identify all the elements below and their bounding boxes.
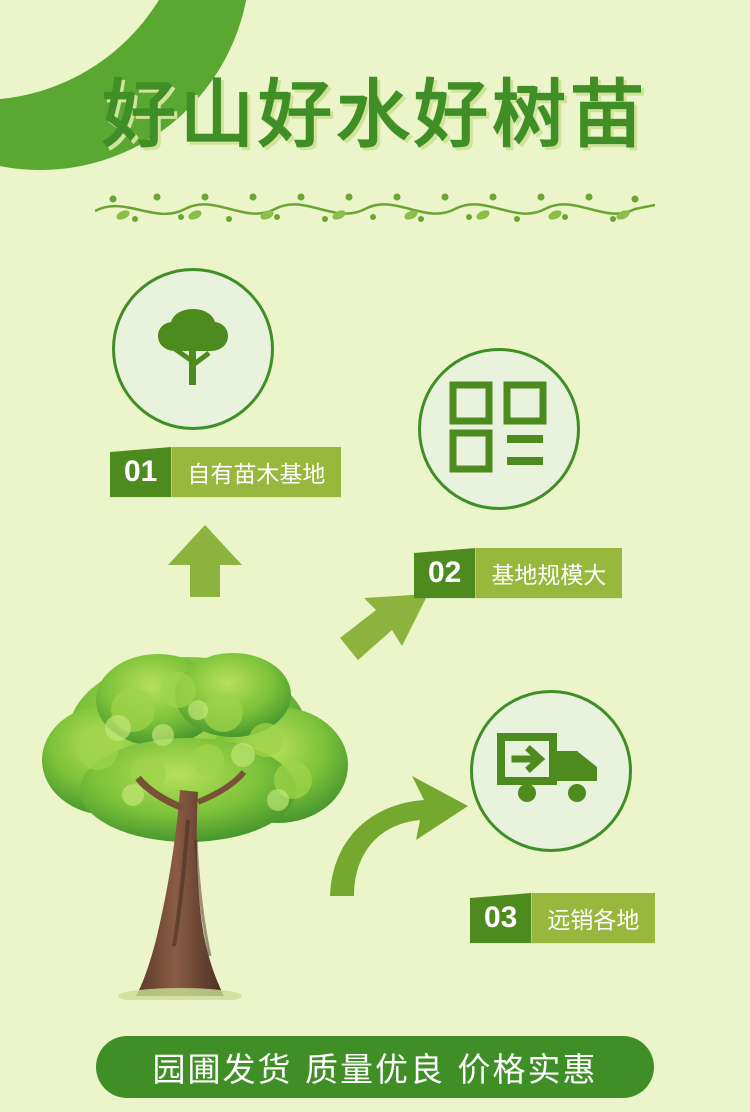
feature-number-2: 02 — [414, 548, 475, 598]
feature-text-1: 自有苗木基地 — [171, 447, 341, 497]
feature-label-2[interactable]: 02 基地规模大 — [414, 548, 622, 598]
bottom-banner: 园圃发货 质量优良 价格实惠 — [96, 1036, 654, 1098]
feature-number-3: 03 — [470, 893, 531, 943]
tree-icon — [145, 299, 241, 400]
feature-circle-2[interactable] — [418, 348, 580, 510]
grid-blocks-icon — [449, 381, 549, 478]
vine-divider-icon — [95, 185, 655, 230]
feature-circle-3[interactable] — [470, 690, 632, 852]
feature-text-2: 基地规模大 — [475, 548, 622, 598]
arrow-up-icon — [168, 525, 242, 602]
delivery-truck-icon — [497, 729, 605, 814]
feature-number-1: 01 — [110, 447, 171, 497]
feature-circle-1[interactable] — [112, 268, 274, 430]
feature-label-3[interactable]: 03 远销各地 — [470, 893, 655, 943]
page-title: 好山好水好树苗 — [0, 78, 750, 152]
big-tree-illustration — [38, 640, 358, 1000]
feature-text-3: 远销各地 — [531, 893, 655, 943]
poster-canvas: 好山好水好树苗 — [0, 0, 750, 1112]
feature-label-1[interactable]: 01 自有苗木基地 — [110, 447, 341, 497]
